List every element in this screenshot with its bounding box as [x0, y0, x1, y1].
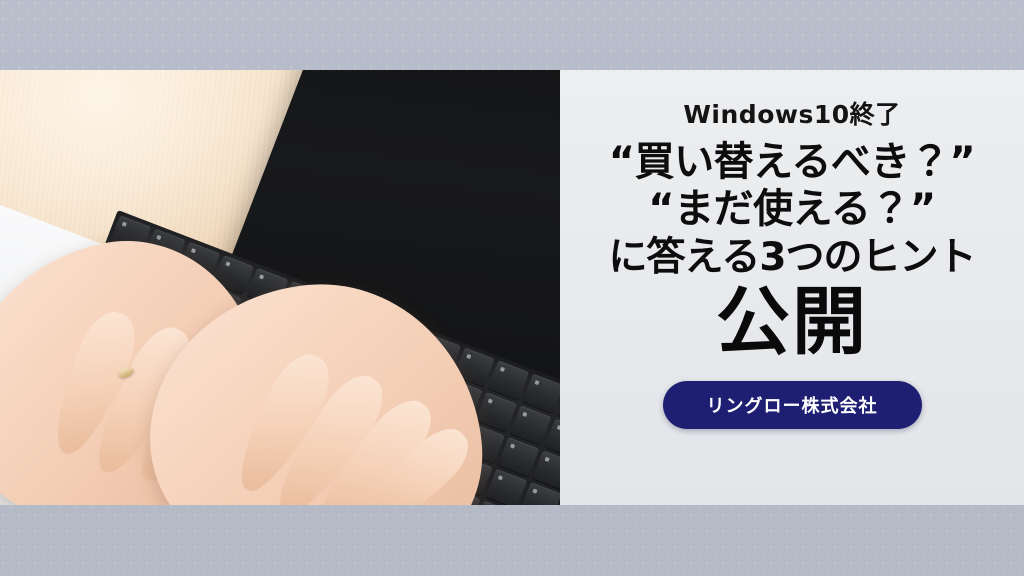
- big-headline-word: 公開: [716, 285, 868, 359]
- kicker-text: Windows10終了: [683, 102, 900, 127]
- company-cta-button[interactable]: リングロー株式会社: [663, 381, 922, 429]
- headline-line-3: に答える3つのヒント: [609, 236, 976, 280]
- hero-photo: [0, 70, 560, 505]
- headline-line-2: “まだ使える？”: [648, 187, 935, 232]
- headline-line-1: “買い替えるべき？”: [609, 140, 975, 185]
- text-panel: Windows10終了 “買い替えるべき？” “まだ使える？” に答える3つのヒ…: [560, 70, 1024, 505]
- banner-root: Windows10終了 “買い替えるべき？” “まだ使える？” に答える3つのヒ…: [0, 0, 1024, 576]
- content-band: Windows10終了 “買い替えるべき？” “まだ使える？” に答える3つのヒ…: [0, 70, 1024, 505]
